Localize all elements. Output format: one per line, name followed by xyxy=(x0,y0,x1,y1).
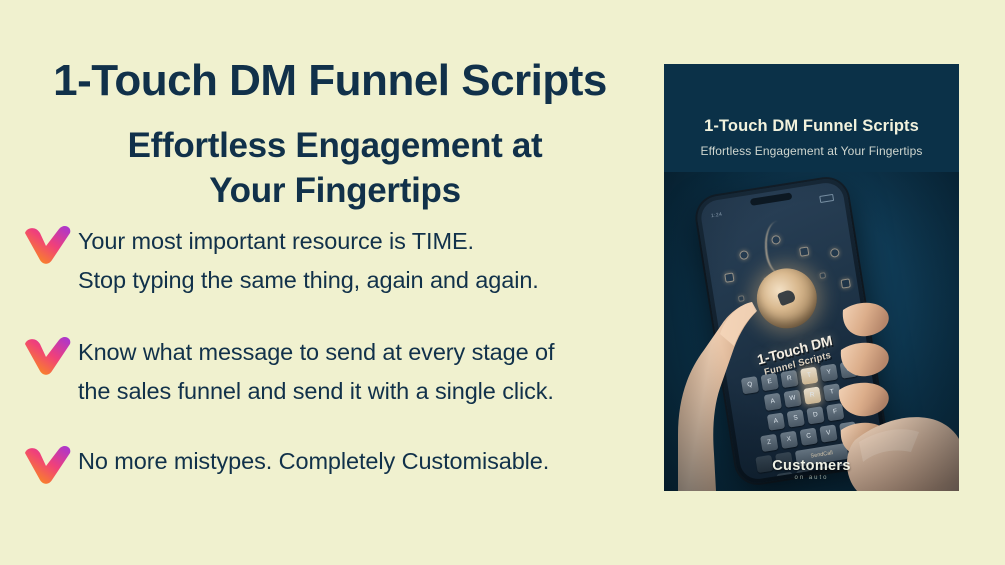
phone-screen: 1:24 xyxy=(699,180,885,481)
keyboard-key[interactable]: T xyxy=(823,383,841,401)
slide-root: 1-Touch DM Funnel Scripts Effortless Eng… xyxy=(0,0,1005,565)
list-item: Know what message to send at every stage… xyxy=(0,333,660,412)
check-icon xyxy=(22,444,74,486)
list-item-line: the sales funnel and send it with a sing… xyxy=(78,372,660,411)
keyboard-key[interactable]: R xyxy=(803,386,821,404)
product-cover-image: 1-Touch DM Funnel Scripts Effortless Eng… xyxy=(664,64,959,491)
brand-name: Customers xyxy=(664,458,959,474)
keyboard-key[interactable]: V xyxy=(819,424,837,442)
keyboard-key[interactable]: C xyxy=(800,428,818,446)
keyboard-key[interactable]: Y xyxy=(820,364,838,382)
battery-icon xyxy=(819,194,834,203)
keyboard-key[interactable]: E xyxy=(761,373,779,391)
list-item-text: Know what message to send at every stage… xyxy=(78,333,660,412)
app-glyph-icon xyxy=(799,246,809,256)
page-title: 1-Touch DM Funnel Scripts xyxy=(0,58,660,104)
keyboard-key[interactable]: T xyxy=(800,367,818,385)
page-subtitle-line-1: Effortless Engagement at xyxy=(128,126,543,165)
smartphone-graphic: 1:24 xyxy=(694,176,889,486)
list-item-text: Your most important resource is TIME. St… xyxy=(78,222,660,301)
keyboard-key[interactable]: X xyxy=(780,431,798,449)
app-glyph-icon xyxy=(738,295,745,302)
keyboard-key[interactable]: S xyxy=(787,409,805,427)
check-icon xyxy=(22,335,74,377)
app-glyph-icon xyxy=(724,272,734,282)
list-item-line: Know what message to send at every stage… xyxy=(78,333,660,372)
list-item-line: No more mistypes. Completely Customisabl… xyxy=(78,442,660,481)
brand-tagline: on auto xyxy=(664,475,959,481)
check-icon xyxy=(22,224,74,266)
app-glyph-icon xyxy=(830,248,840,258)
backspace-key-icon[interactable] xyxy=(850,440,868,458)
keyboard-key[interactable]: F xyxy=(826,403,844,421)
cover-title: 1-Touch DM Funnel Scripts xyxy=(664,117,959,136)
keyboard-key[interactable]: A xyxy=(767,412,785,430)
list-item-line: Stop typing the same thing, again and ag… xyxy=(78,261,660,300)
keyboard-key[interactable]: W xyxy=(783,390,801,408)
list-item-text: No more mistypes. Completely Customisabl… xyxy=(78,442,660,481)
keyboard-key[interactable]: Z xyxy=(760,434,778,452)
benefit-list: Your most important resource is TIME. St… xyxy=(0,222,660,488)
list-item-line: Your most important resource is TIME. xyxy=(78,222,660,261)
keyboard-key[interactable]: A xyxy=(764,393,782,411)
cover-brand: Customers on auto xyxy=(664,458,959,481)
left-content-column: 1-Touch DM Funnel Scripts Effortless Eng… xyxy=(0,0,660,565)
page-subtitle-line-2: Your Fingertips xyxy=(209,171,461,210)
keyboard-key[interactable]: R xyxy=(780,370,798,388)
keyboard-key[interactable]: Q xyxy=(741,376,759,394)
keyboard-key[interactable]: B xyxy=(839,421,857,439)
list-item: Your most important resource is TIME. St… xyxy=(0,222,660,301)
app-glyph-icon xyxy=(841,278,851,288)
cover-subtitle: Effortless Engagement at Your Fingertips xyxy=(664,144,959,158)
keyboard-key[interactable]: D xyxy=(806,406,824,424)
page-subtitle: Effortless Engagement at Your Fingertips xyxy=(30,124,640,214)
app-glyph-icon xyxy=(739,250,749,260)
list-item: No more mistypes. Completely Customisabl… xyxy=(0,442,660,488)
keyboard-key[interactable]: U xyxy=(840,360,858,378)
phone-status-time: 1:24 xyxy=(711,212,723,220)
app-glyph-icon xyxy=(819,272,826,279)
phone-in-hands-photo: 1:24 xyxy=(664,172,959,491)
